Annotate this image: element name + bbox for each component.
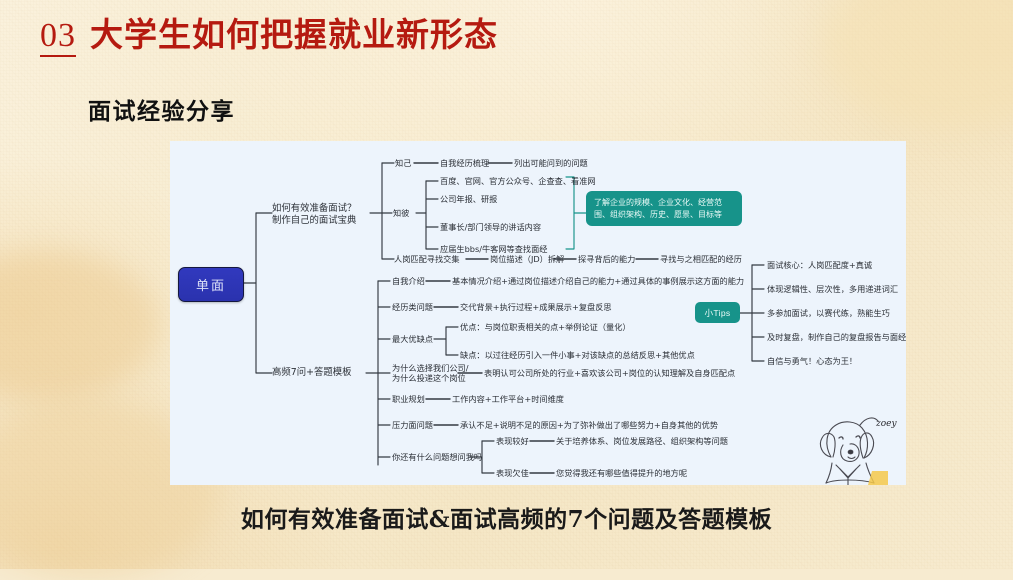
page-subtitle: 面试经验分享 — [88, 92, 235, 126]
node-stress-answer[interactable]: 承认不足+说明不足的原因+为了弥补做出了哪些努力+自身其他的优势 — [460, 420, 718, 430]
figure-caption: 如何有效准备面试&面试高频的7个问题及答题模板 — [0, 500, 1013, 534]
node-weakness-answer[interactable]: 缺点：以过往经历引入一件小事+对该缺点的总结反思+其他优点 — [460, 350, 695, 360]
callout-company-research[interactable]: 了解企业的规模、企业文化、经营范围、组织架构、历史、愿景、目标等 — [586, 191, 742, 226]
node-performed-well[interactable]: 表现较好 — [496, 436, 529, 446]
node-strength-weakness[interactable]: 最大优缺点 — [392, 334, 433, 344]
node-why-company-answer[interactable]: 表明认可公司所处的行业+喜欢该公司+岗位的认知理解及自身匹配点 — [484, 368, 735, 378]
node-any-questions[interactable]: 你还有什么问题想问我吗 — [392, 452, 482, 462]
branch-label-prepare[interactable]: 如何有效准备面试？ 制作自己的面试宝典 — [272, 203, 356, 227]
node-zhiji[interactable]: 知己 — [395, 158, 411, 168]
node-zhibi-item-2[interactable]: 公司年报、研报 — [440, 194, 497, 204]
node-zhibi-item-4[interactable]: 应届生bbs/牛客网等查找面经 — [440, 244, 547, 254]
node-self-intro-answer[interactable]: 基本情况介绍+通过岗位描述介绍自己的能力+通过具体的事例展示这方面的能力 — [452, 276, 744, 286]
dog-sketch-doodle: zoey — [798, 411, 902, 485]
tips-item-4[interactable]: 及时复盘，制作自己的复盘报告与面经 — [767, 332, 906, 342]
tips-item-3[interactable]: 多参加面试，以赛代练，熟能生巧 — [767, 308, 890, 318]
doodle-signature: zoey — [875, 419, 897, 429]
node-matching-experience[interactable]: 寻找与之相匹配的经历 — [660, 254, 742, 264]
dog-sketch-icon: zoey — [798, 411, 902, 485]
tips-item-2[interactable]: 体现逻辑性、层次性，多用递进词汇 — [767, 284, 898, 294]
page-header: 03 大学生如何把握就业新形态 — [40, 18, 498, 57]
node-person-job-match[interactable]: 人岗匹配寻找交集 — [394, 254, 460, 264]
node-career-plan[interactable]: 职业规划 — [392, 394, 425, 404]
node-self-intro[interactable]: 自我介绍 — [392, 276, 425, 286]
tips-item-1[interactable]: 面试核心：人岗匹配度+真诚 — [767, 260, 872, 270]
node-experience-q[interactable]: 经历类问题 — [392, 302, 433, 312]
page-title: 大学生如何把握就业新形态 — [90, 18, 498, 53]
node-zhibi-item-3[interactable]: 董事长/部门领导的讲话内容 — [440, 222, 541, 232]
mindmap-canvas: 单面 如何有效准备面试？ 制作自己的面试宝典 知己 自我经历梳理 列出可能问到的… — [170, 141, 906, 485]
node-zhiji-step-2[interactable]: 列出可能问到的问题 — [514, 158, 588, 168]
node-stress-question[interactable]: 压力面问题 — [392, 420, 433, 430]
branch-label-faq7[interactable]: 高频7问+答题模板 — [272, 367, 351, 379]
node-performed-well-answer[interactable]: 关于培养体系、岗位发展路径、组织架构等问题 — [556, 436, 728, 446]
node-explore-ability[interactable]: 探寻背后的能力 — [578, 254, 635, 264]
section-number: 03 — [40, 18, 76, 57]
node-why-company[interactable]: 为什么选择我们公司/ 为什么投递这个岗位 — [392, 363, 468, 384]
node-zhibi[interactable]: 知彼 — [393, 208, 409, 218]
node-zhiji-step-1[interactable]: 自我经历梳理 — [440, 158, 489, 168]
node-experience-answer[interactable]: 交代背景+执行过程+成果展示+复盘反思 — [460, 302, 612, 312]
node-strength-answer[interactable]: 优点：与岗位职责相关的点+举例论证（量化） — [460, 322, 631, 332]
node-career-plan-answer[interactable]: 工作内容+工作平台+时间维度 — [452, 394, 564, 404]
mindmap-root-node[interactable]: 单面 — [178, 267, 244, 302]
node-jd-breakdown[interactable]: 岗位描述（JD）拆解 — [490, 254, 564, 264]
node-zhibi-item-1[interactable]: 百度、官网、官方公众号、企查查、看准网 — [440, 176, 596, 186]
tips-item-5[interactable]: 自信与勇气！心态为王！ — [767, 356, 857, 366]
node-performed-poorly-answer[interactable]: 您觉得我还有哪些值得提升的地方呢 — [556, 468, 687, 478]
tips-node[interactable]: 小Tips — [695, 302, 740, 323]
node-performed-poorly[interactable]: 表现欠佳 — [496, 468, 529, 478]
